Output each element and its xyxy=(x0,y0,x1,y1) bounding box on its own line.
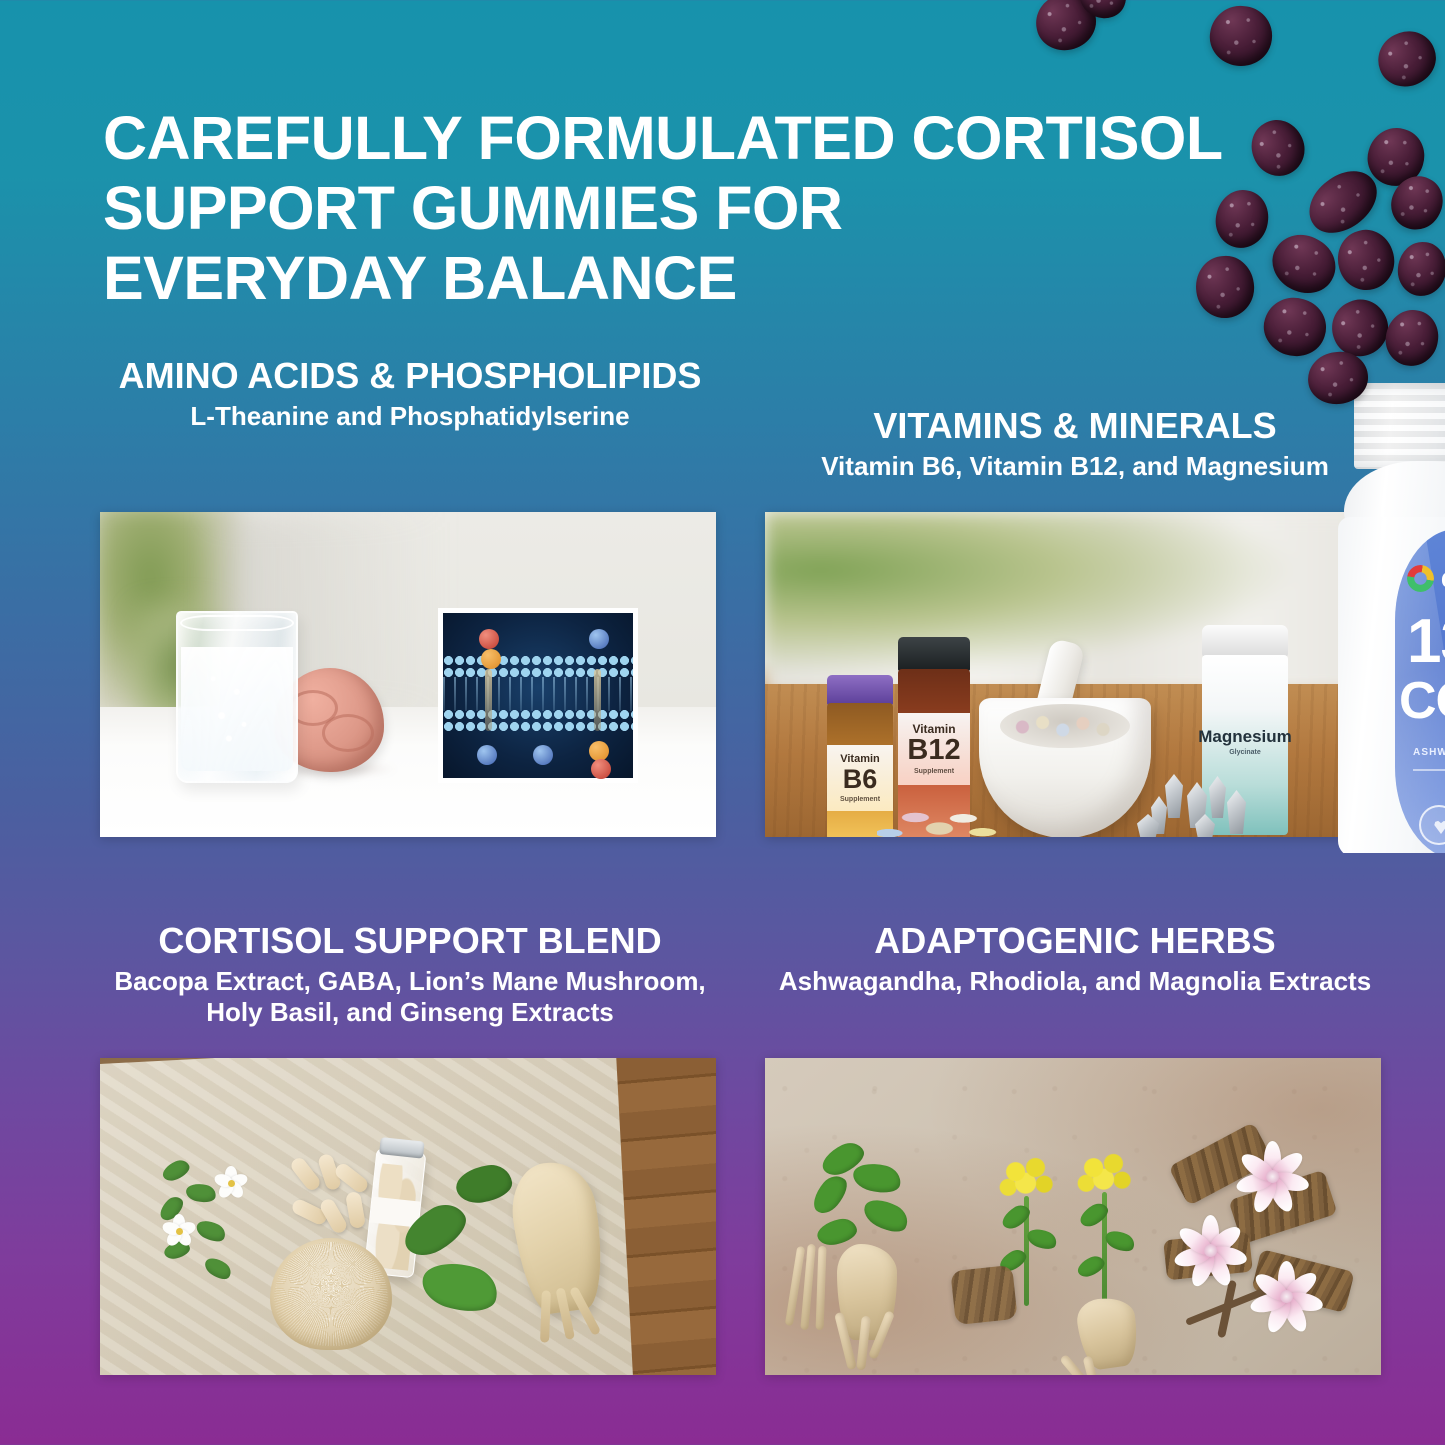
cell-membrane-diagram xyxy=(438,608,638,783)
section-subtitle: Ashwagandha, Rhodiola, and Magnolia Extr… xyxy=(765,966,1385,997)
membrane-protein xyxy=(481,649,501,669)
section-title: CORTISOL SUPPORT BLEND xyxy=(100,920,720,961)
product-ingredients: ASHWAGA xyxy=(1413,747,1445,758)
berry-gummy xyxy=(1206,2,1276,70)
rhodiola-plant xyxy=(961,1150,1181,1370)
section-adaptogenic-herbs: ADAPTOGENIC HERBS Ashwagandha, Rhodiola,… xyxy=(765,920,1385,997)
protein-stalk xyxy=(485,669,492,731)
magnolia-flower xyxy=(1173,1214,1247,1288)
brand-logo-icon xyxy=(1407,565,1434,592)
label-value: B12 xyxy=(907,736,960,765)
berry-gummy xyxy=(1381,305,1444,371)
bottle-label: Vitamin B12 Supplement xyxy=(898,713,970,785)
section-amino-acids-phospholipids: AMINO ACIDS & PHOSPHOLIPIDS L-Theanine a… xyxy=(100,355,720,432)
berry-gummy xyxy=(1262,224,1345,304)
bottle-label: Magnesium Glycinate xyxy=(1202,711,1288,773)
section-vitamins-minerals: VITAMINS & MINERALS Vitamin B6, Vitamin … xyxy=(765,405,1385,482)
berry-gummy xyxy=(1242,111,1314,185)
berry-gummy xyxy=(1257,290,1334,364)
label-value: B6 xyxy=(843,766,878,793)
water-glass xyxy=(176,611,298,783)
label-brand: Vitamin xyxy=(840,754,880,765)
protein-stalk xyxy=(594,669,601,731)
ashwagandha-plant xyxy=(791,1146,971,1356)
bottle-label: C 13 CO ASHWAGA xyxy=(1395,529,1445,853)
label-name: Magnesium xyxy=(1198,728,1292,745)
bottle-cap xyxy=(827,675,893,705)
photo-vitamins-minerals: Vitamin B6 Supplement Vitamin B12 Supple… xyxy=(765,512,1381,837)
holy-basil-leaves xyxy=(400,1206,520,1346)
bacopa-flower xyxy=(214,1166,248,1200)
section-subtitle: Vitamin B6, Vitamin B12, and Magnesium xyxy=(765,451,1385,482)
berry-gummies xyxy=(1020,0,1445,410)
magnolia-flower xyxy=(1249,1260,1323,1334)
bottle-cap xyxy=(1202,625,1288,657)
mineral-crystals xyxy=(1137,770,1257,837)
jar-lid xyxy=(379,1137,425,1159)
lipid-head-row xyxy=(443,721,633,732)
pills-in-mortar xyxy=(1009,712,1121,742)
lipid-tails xyxy=(443,677,633,711)
magnolia-flower xyxy=(1235,1140,1309,1214)
section-subtitle: Bacopa Extract, GABA, Lion’s Mane Mushro… xyxy=(100,966,720,1028)
section-title: AMINO ACIDS & PHOSPHOLIPIDS xyxy=(100,355,720,396)
bacopa-flower xyxy=(162,1214,196,1248)
berry-gummy xyxy=(1192,252,1258,321)
section-subtitle: L-Theanine and Phosphatidylserine xyxy=(100,401,720,432)
brand-logo-letter: C xyxy=(1441,567,1445,594)
label-sub: Glycinate xyxy=(1229,749,1261,756)
loose-capsules xyxy=(296,1154,368,1232)
membrane-protein xyxy=(589,629,609,649)
membrane-protein xyxy=(589,741,609,761)
section-title: VITAMINS & MINERALS xyxy=(765,405,1385,446)
loose-tablets xyxy=(877,800,997,837)
membrane-protein xyxy=(479,629,499,649)
membrane-protein xyxy=(591,759,611,779)
section-cortisol-support-blend: CORTISOL SUPPORT BLEND Bacopa Extract, G… xyxy=(100,920,720,1028)
wood-planks xyxy=(616,1058,716,1375)
glass-rim xyxy=(180,615,294,631)
label-sub: Supplement xyxy=(914,768,954,775)
photo-amino-acids-phospholipids xyxy=(100,512,716,837)
product-count: 13 xyxy=(1407,613,1445,670)
berry-gummy xyxy=(1395,240,1445,299)
membrane-protein xyxy=(533,745,553,765)
bottle-cap xyxy=(898,637,970,671)
photo-adaptogenic-herbs xyxy=(765,1058,1381,1375)
lipid-head-row xyxy=(443,655,633,666)
product-bottle: C 13 CO ASHWAGA xyxy=(1338,383,1445,853)
bacopa-plant xyxy=(152,1156,282,1286)
berry-gummy xyxy=(1211,186,1272,252)
label-divider xyxy=(1413,769,1445,771)
lipid-head-row xyxy=(443,709,633,720)
berry-gummy xyxy=(1331,223,1401,296)
magnolia-group xyxy=(1159,1134,1379,1364)
berry-gummy xyxy=(1371,24,1444,95)
lions-mane-mushroom xyxy=(270,1238,392,1350)
dried-root-chips xyxy=(950,1265,1017,1325)
dissolving-powder xyxy=(202,661,258,749)
product-name: CO xyxy=(1399,677,1445,726)
photo-cortisol-support-blend xyxy=(100,1058,716,1375)
section-title: ADAPTOGENIC HERBS xyxy=(765,920,1385,961)
membrane-protein xyxy=(477,745,497,765)
label-sub: Supplement xyxy=(840,796,880,803)
berry-gummy xyxy=(1305,349,1370,407)
